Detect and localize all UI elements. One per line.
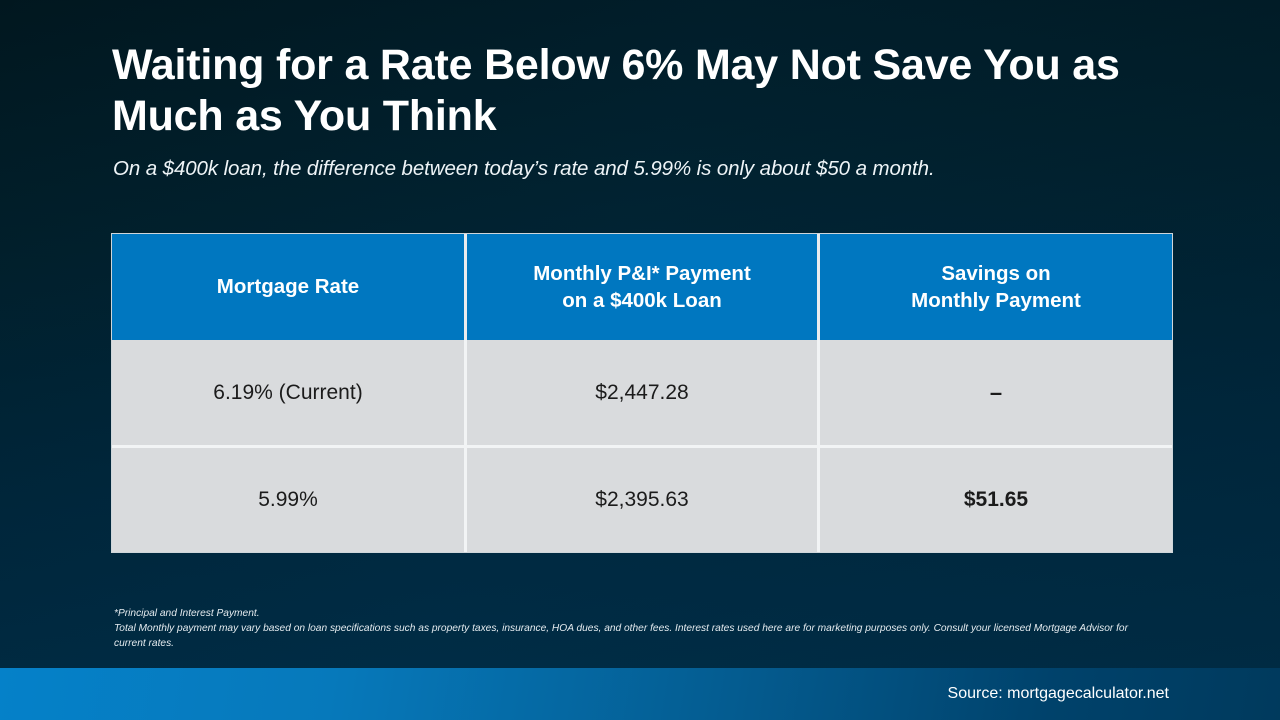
- footer-bar: Source: mortgagecalculator.net: [0, 668, 1280, 720]
- column-header-savings: Savings on Monthly Payment: [817, 234, 1172, 340]
- cell-mortgage-rate-current-value: 6.19% (Current): [213, 381, 362, 405]
- column-header-mortgage-rate-label: Mortgage Rate: [217, 273, 359, 300]
- page-subtitle: On a $400k loan, the difference between …: [113, 157, 1173, 181]
- column-header-savings-label: Savings on Monthly Payment: [911, 260, 1081, 315]
- source-attribution: Source: mortgagecalculator.net: [948, 685, 1169, 703]
- cell-savings-target: $51.65: [817, 448, 1172, 552]
- footnote-principal-interest: *Principal and Interest Payment.: [114, 607, 1159, 622]
- page-title: Waiting for a Rate Below 6% May Not Save…: [112, 40, 1147, 141]
- column-header-monthly-payment-line2: on a $400k Loan: [562, 289, 722, 312]
- cell-savings-current: –: [817, 340, 1172, 445]
- cell-mortgage-rate-target: 5.99%: [112, 448, 464, 552]
- cell-monthly-payment-current: $2,447.28: [464, 340, 817, 445]
- cell-mortgage-rate-current: 6.19% (Current): [112, 340, 464, 445]
- table-row: 5.99% $2,395.63 $51.65: [112, 445, 1172, 552]
- table-row: 6.19% (Current) $2,447.28 –: [112, 340, 1172, 445]
- column-header-monthly-payment-line1: Monthly P&I* Payment: [533, 262, 751, 285]
- cell-monthly-payment-target: $2,395.63: [464, 448, 817, 552]
- column-header-savings-line2: Monthly Payment: [911, 289, 1081, 312]
- column-header-mortgage-rate: Mortgage Rate: [112, 234, 464, 340]
- cell-monthly-payment-target-value: $2,395.63: [595, 488, 688, 512]
- column-header-monthly-payment: Monthly P&I* Payment on a $400k Loan: [464, 234, 817, 340]
- slide-canvas: Waiting for a Rate Below 6% May Not Save…: [0, 0, 1280, 720]
- table-header-row: Mortgage Rate Monthly P&I* Payment on a …: [112, 234, 1172, 340]
- cell-savings-current-value: –: [990, 380, 1002, 406]
- cell-mortgage-rate-target-value: 5.99%: [258, 488, 318, 512]
- cell-monthly-payment-current-value: $2,447.28: [595, 381, 688, 405]
- footnote-disclaimer: Total Monthly payment may vary based on …: [114, 622, 1159, 652]
- column-header-monthly-payment-label: Monthly P&I* Payment on a $400k Loan: [533, 260, 751, 315]
- column-header-savings-line1: Savings on: [941, 262, 1050, 285]
- footnotes: *Principal and Interest Payment. Total M…: [114, 607, 1159, 651]
- cell-savings-target-value: $51.65: [964, 488, 1028, 512]
- mortgage-comparison-table: Mortgage Rate Monthly P&I* Payment on a …: [111, 233, 1173, 553]
